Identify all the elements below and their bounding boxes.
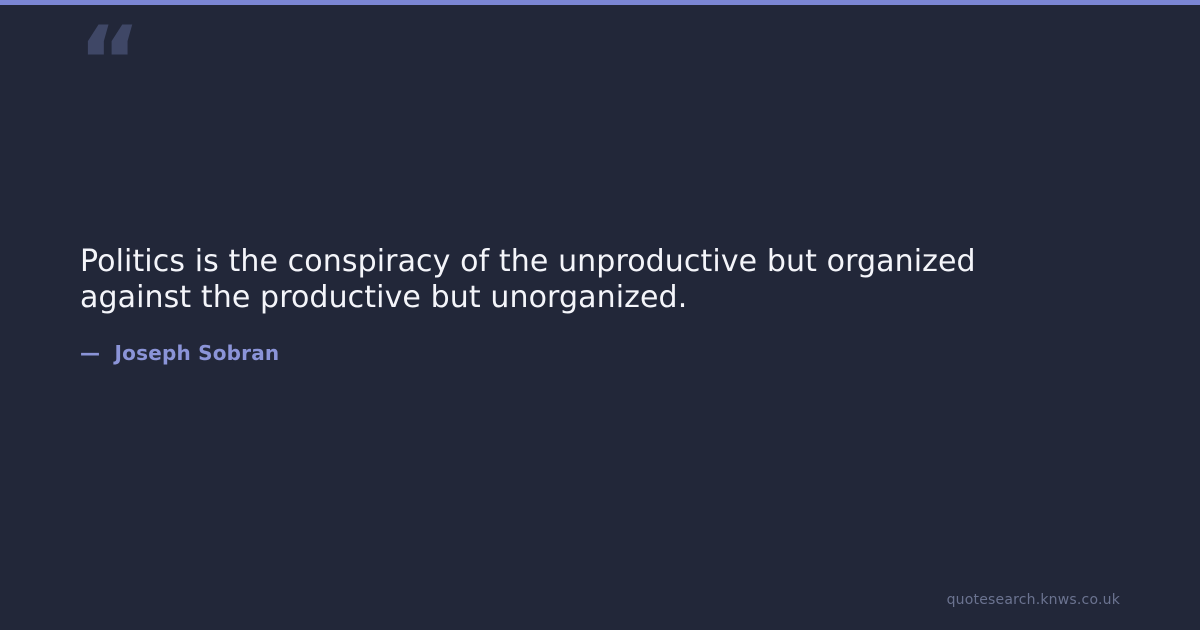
quote-text: Politics is the conspiracy of the unprod…: [80, 244, 1070, 316]
quote-card: “ Politics is the conspiracy of the unpr…: [0, 0, 1200, 630]
quote-attribution: — Joseph Sobran: [80, 338, 279, 368]
quotation-mark-icon: “: [78, 14, 139, 110]
site-watermark: quotesearch.knws.co.uk: [947, 590, 1120, 610]
